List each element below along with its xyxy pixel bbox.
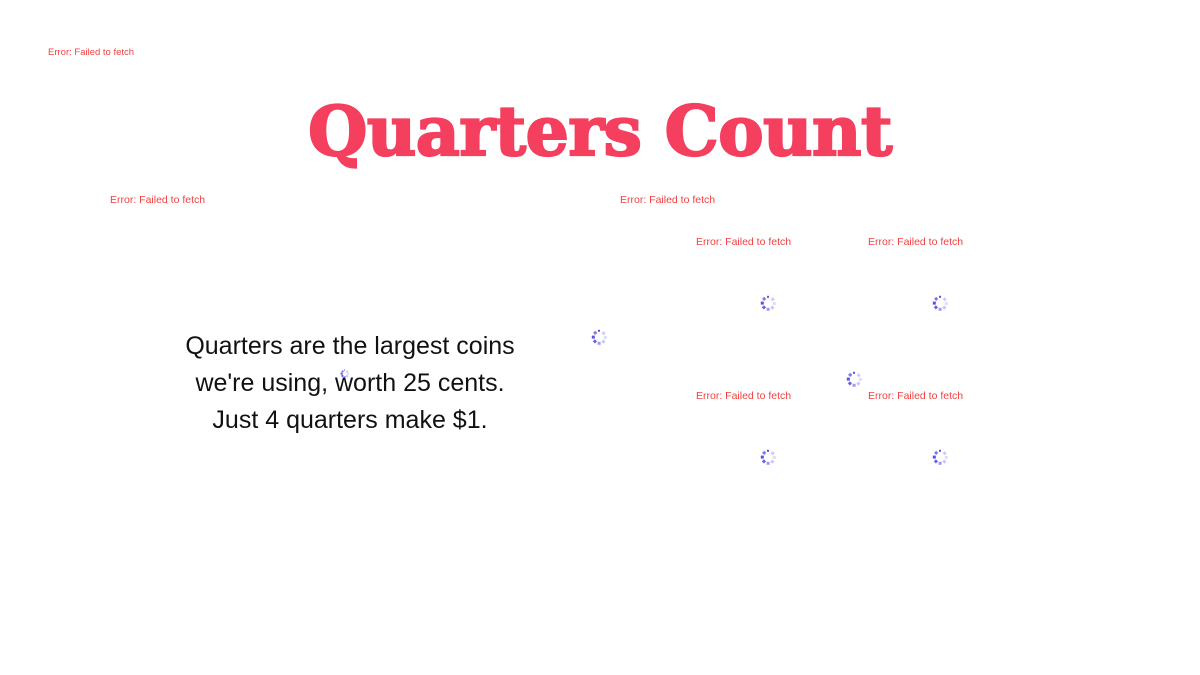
coin-slot-4-error: Error: Failed to fetch xyxy=(868,390,963,403)
lesson-description: Quarters are the largest coins we're usi… xyxy=(140,328,560,439)
coin-slot-3-error: Error: Failed to fetch xyxy=(696,390,791,403)
loading-spinner-icon xyxy=(932,295,948,311)
status-error-right-panel: Error: Failed to fetch xyxy=(620,194,715,207)
loading-spinner-icon xyxy=(340,369,349,378)
app-root: Error: Failed to fetch Quarters Count Er… xyxy=(0,0,1200,675)
lesson-description-line-3: Just 4 quarters make $1. xyxy=(140,402,560,439)
loading-spinner-icon xyxy=(760,449,776,465)
page-header: Quarters Count xyxy=(0,92,1200,172)
loading-spinner-icon xyxy=(846,371,862,387)
status-error-page-top: Error: Failed to fetch xyxy=(48,46,134,59)
loading-spinner-icon xyxy=(760,295,776,311)
status-error-left-panel: Error: Failed to fetch xyxy=(110,194,205,207)
loading-spinner-icon xyxy=(591,329,607,345)
page-title: Quarters Count xyxy=(308,92,892,172)
coin-slot-2-error: Error: Failed to fetch xyxy=(868,236,963,249)
loading-spinner-icon xyxy=(932,449,948,465)
lesson-description-line-1: Quarters are the largest coins xyxy=(140,328,560,365)
coin-slot-1-error: Error: Failed to fetch xyxy=(696,236,791,249)
lesson-description-line-2: we're using, worth 25 cents. xyxy=(140,365,560,402)
